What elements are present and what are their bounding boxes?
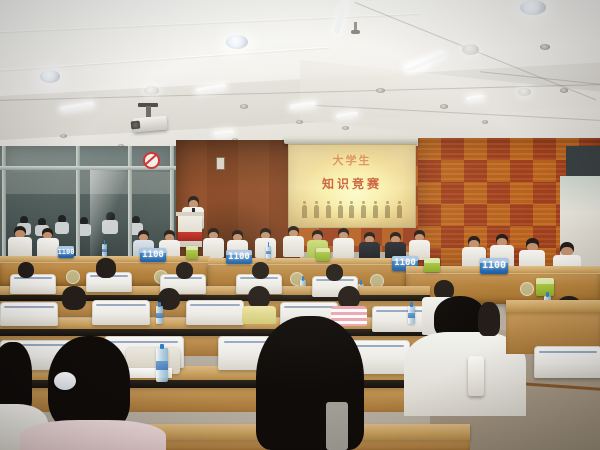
scoreboard-highlight xyxy=(316,248,330,252)
slide-title-top: 大学生 xyxy=(289,152,415,168)
hair-clip xyxy=(54,372,76,390)
glass-reflection xyxy=(90,170,126,256)
projection-screen: 大学生 知识竞赛 xyxy=(288,142,414,228)
slide-title-main: 知识竞赛 xyxy=(289,175,415,192)
water-bottle xyxy=(408,306,415,324)
strip-light xyxy=(407,50,446,72)
sprinkler-head xyxy=(354,22,357,32)
slide-figure xyxy=(349,205,354,218)
downlight xyxy=(226,35,248,49)
ceiling-speaker-icon xyxy=(540,44,550,50)
desk-emblem xyxy=(66,270,80,284)
slide-figures-graphic xyxy=(299,200,405,218)
audience-chair[interactable] xyxy=(10,274,56,294)
podium-banner-band xyxy=(178,232,202,241)
contestant-torso xyxy=(37,238,59,257)
projection-screen-case xyxy=(284,137,418,144)
hanging-bag xyxy=(468,356,484,396)
scoreboard[interactable] xyxy=(536,278,554,296)
scoreboard-highlight xyxy=(186,246,198,250)
downlight xyxy=(40,70,60,83)
projector-lens xyxy=(131,121,141,130)
slide-figure xyxy=(361,205,366,218)
contestant-torso xyxy=(203,238,224,258)
audience-head xyxy=(96,258,116,278)
bottle-label xyxy=(102,249,107,252)
projector-mount-arm xyxy=(146,106,151,117)
scoreboard[interactable]: 1100 xyxy=(226,250,252,264)
downlight xyxy=(462,44,479,55)
water-bottle xyxy=(266,246,271,259)
ceiling-speaker-icon xyxy=(60,134,67,138)
water-bottle xyxy=(156,348,168,382)
audience-head xyxy=(18,262,34,278)
strip-light xyxy=(214,130,234,136)
ceiling-seam xyxy=(0,46,329,70)
water-bottle xyxy=(156,306,163,324)
foreground-strap xyxy=(326,402,348,450)
downlight xyxy=(520,0,546,15)
far-person-body xyxy=(55,222,69,234)
scoreboard-value: 1100 xyxy=(482,261,506,271)
speaker-podium xyxy=(178,215,202,247)
slide-figure xyxy=(338,205,343,218)
side-desk-top xyxy=(506,300,600,312)
ceiling-speaker-icon xyxy=(376,88,385,93)
ceiling-speaker-icon xyxy=(482,120,488,124)
audience-chair[interactable] xyxy=(186,300,244,325)
audience-head xyxy=(252,262,269,279)
window-mullion xyxy=(76,146,80,264)
glass-reflection xyxy=(6,172,170,194)
slide-figure xyxy=(397,205,402,218)
ceiling-speaker-icon xyxy=(440,104,448,109)
scoreboard-value: 1100 xyxy=(228,253,250,262)
bottle-label xyxy=(266,251,271,254)
contestant-torso xyxy=(333,238,354,258)
scoreboard-value: 1100 xyxy=(142,251,164,260)
scoreboard-highlight xyxy=(424,258,440,263)
audience-torso xyxy=(242,306,276,324)
ceiling xyxy=(0,0,600,160)
audience-head xyxy=(326,264,343,281)
bottle-label xyxy=(156,361,168,370)
ceiling-speaker-icon xyxy=(560,88,568,93)
wall-fixture-icon xyxy=(216,157,225,170)
audience-chair[interactable] xyxy=(534,346,600,378)
downlight xyxy=(518,88,531,96)
scoreboard[interactable] xyxy=(186,246,198,259)
no-smoking-sign-icon xyxy=(143,152,160,169)
slide-figure xyxy=(373,205,378,218)
projection-screen-surface: 大学生 知识竞赛 xyxy=(288,144,416,228)
scoreboard-value: 1100 xyxy=(58,249,74,256)
podium-top xyxy=(176,212,204,216)
scoreboard[interactable]: 1100 xyxy=(58,246,74,258)
water-bottle xyxy=(102,244,107,257)
contestant-torso xyxy=(8,237,32,257)
ceiling-speaker-icon xyxy=(296,120,303,124)
contestant-torso xyxy=(283,236,304,257)
downlight xyxy=(144,86,159,95)
ceiling-projector xyxy=(129,112,169,132)
slide-figure xyxy=(314,205,319,218)
audience-chair[interactable] xyxy=(92,300,150,325)
scoreboard-highlight xyxy=(536,278,554,284)
audience-head xyxy=(176,262,193,279)
lecture-hall-photo: 大学生 知识竞赛 xyxy=(0,0,600,450)
audience-chair[interactable] xyxy=(0,302,58,326)
window-mullion xyxy=(2,146,6,264)
doorway-dark xyxy=(566,146,600,178)
scoreboard[interactable] xyxy=(424,258,440,272)
ceiling-speaker-icon xyxy=(240,104,248,109)
scoreboard[interactable]: 1100 xyxy=(480,258,508,274)
foreground-shoulders xyxy=(20,420,166,450)
window-mullion xyxy=(128,146,132,264)
bottle-label xyxy=(156,313,163,318)
desk-emblem xyxy=(520,282,534,296)
slide-figure xyxy=(326,205,331,218)
scoreboard[interactable]: 1100 xyxy=(140,248,166,262)
slide-figure xyxy=(385,205,390,218)
scoreboard[interactable] xyxy=(316,248,330,261)
ceiling-speaker-icon xyxy=(342,126,349,130)
audience-head xyxy=(478,302,500,336)
audience-head xyxy=(62,286,86,310)
slide-figure xyxy=(302,205,307,218)
bottle-label xyxy=(408,313,415,318)
